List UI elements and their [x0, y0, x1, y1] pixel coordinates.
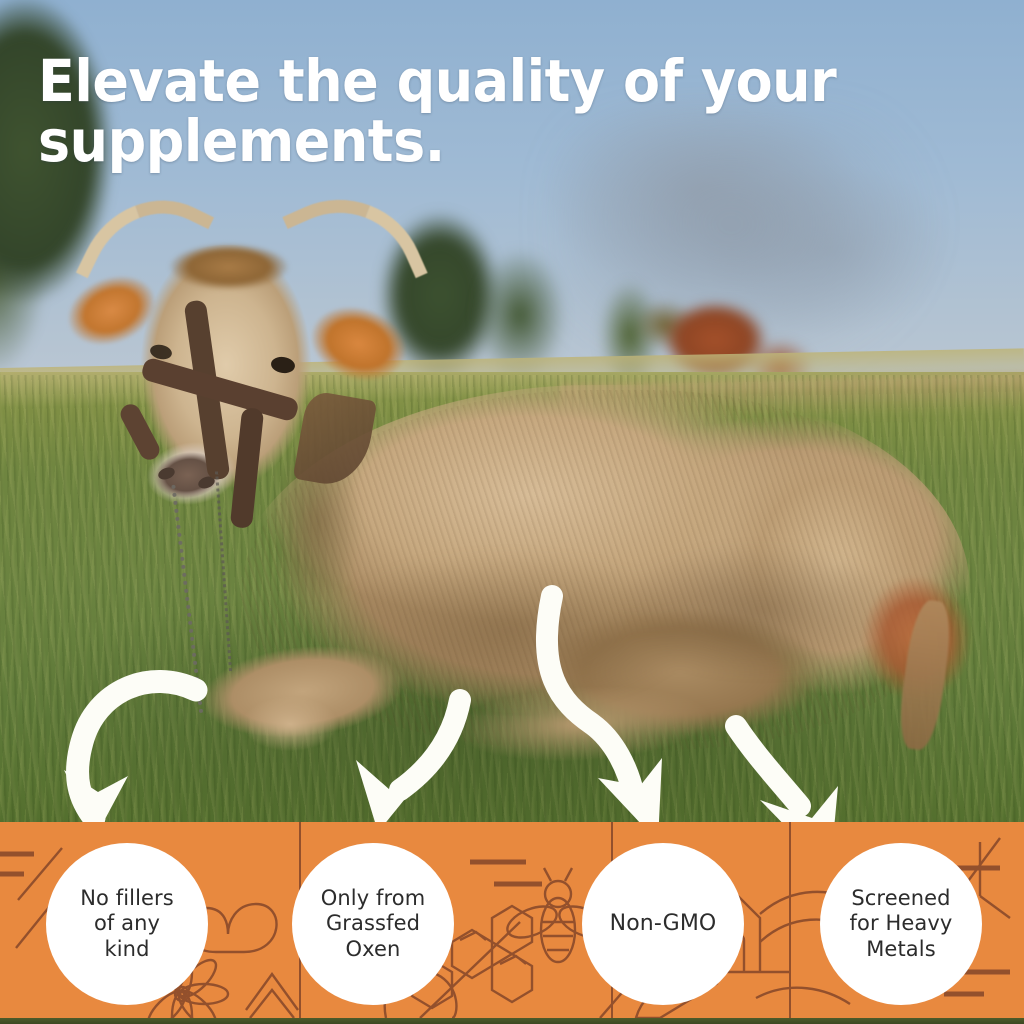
- badge-heavy-metals[interactable]: Screened for Heavy Metals: [820, 843, 982, 1005]
- badge-label: Only from Grassfed Oxen: [313, 886, 434, 963]
- badge-no-fillers[interactable]: No fillers of any kind: [46, 843, 208, 1005]
- badge-grassfed-oxen[interactable]: Only from Grassfed Oxen: [292, 843, 454, 1005]
- badge-non-gmo[interactable]: Non-GMO: [582, 843, 744, 1005]
- arrow-to-non-gmo-icon: [547, 596, 662, 842]
- arrow-to-grassfed-oxen-icon: [356, 700, 460, 832]
- band-bottom-edge: [0, 1018, 1024, 1024]
- badge-row: No fillers of any kind Only from Grassfe…: [0, 822, 1024, 1018]
- badge-label: Non-GMO: [602, 911, 725, 938]
- marketing-graphic: Elevate the quality of your supplements.: [0, 0, 1024, 1024]
- arrow-to-no-fillers-icon: [64, 682, 196, 836]
- badge-label: Screened for Heavy Metals: [842, 886, 961, 963]
- badge-label: No fillers of any kind: [72, 886, 182, 963]
